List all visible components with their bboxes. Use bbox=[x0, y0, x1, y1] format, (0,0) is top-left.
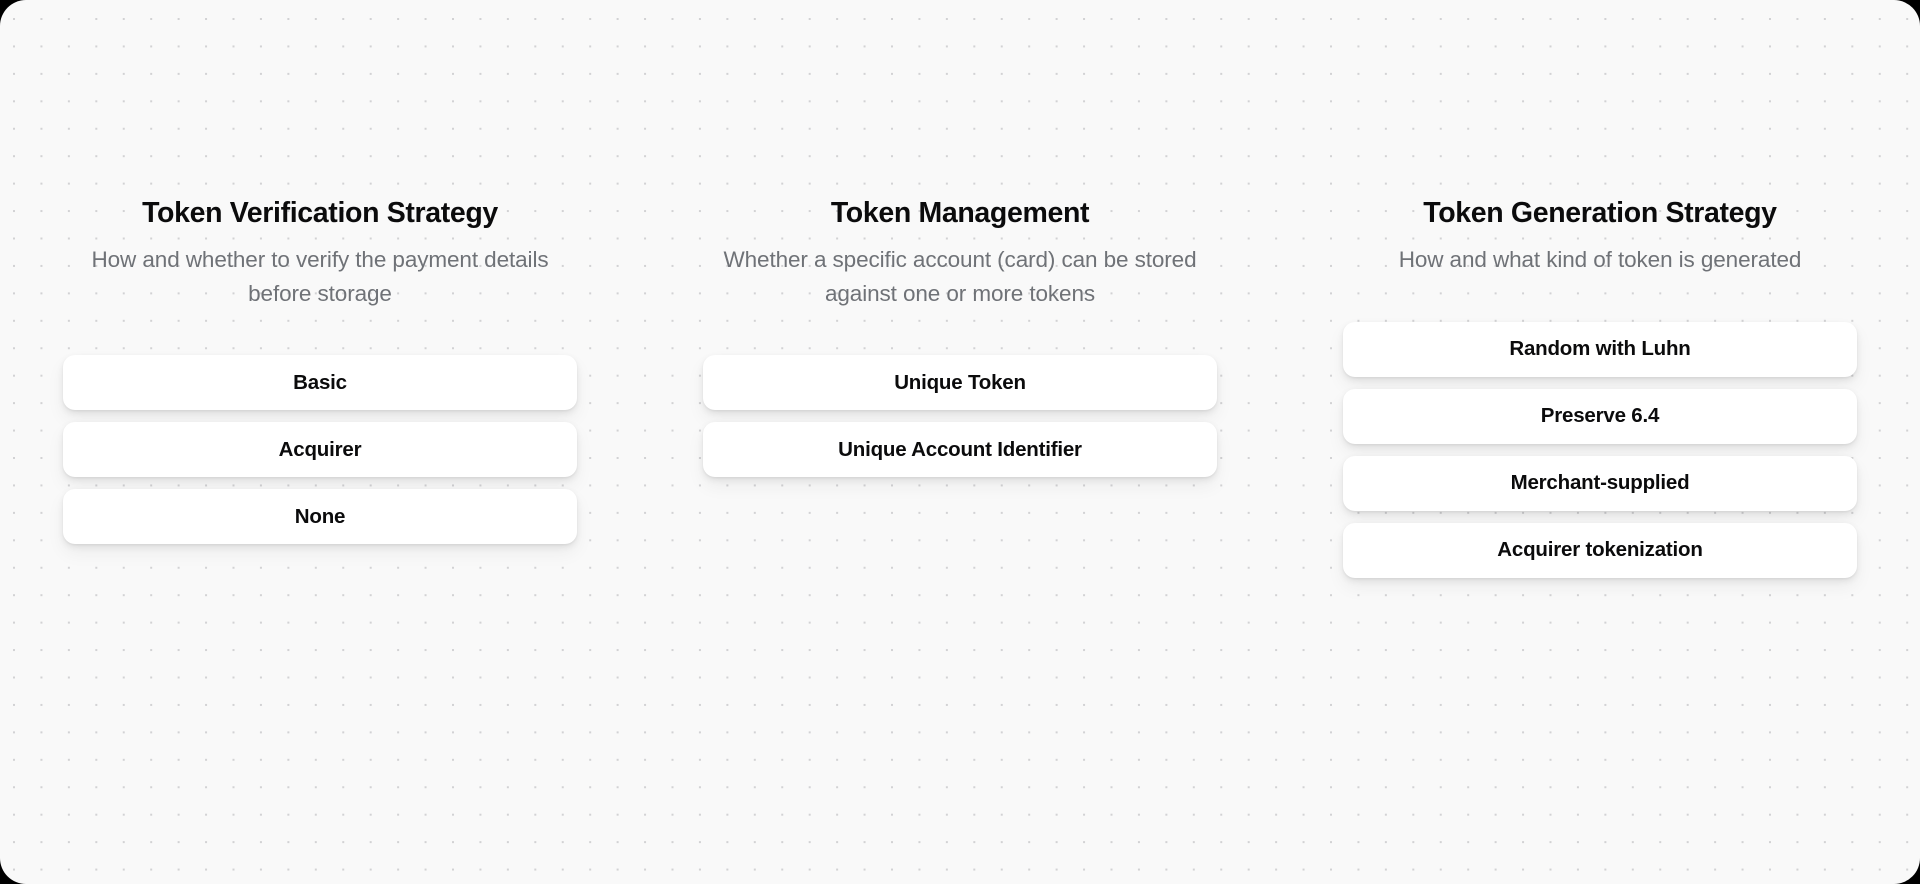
column-header: Token Verification Strategy How and whet… bbox=[63, 196, 577, 310]
option-label: None bbox=[295, 505, 345, 529]
option-label: Unique Account Identifier bbox=[838, 438, 1082, 462]
option-list: Basic Acquirer None bbox=[63, 355, 577, 544]
option-pill-unique-account-identifier[interactable]: Unique Account Identifier bbox=[703, 422, 1217, 477]
column-title: Token Verification Strategy bbox=[63, 196, 577, 230]
option-label: Preserve 6.4 bbox=[1541, 404, 1659, 428]
option-pill-acquirer-tokenization[interactable]: Acquirer tokenization bbox=[1343, 523, 1857, 578]
option-label: Unique Token bbox=[894, 371, 1026, 395]
column-subtitle: How and whether to verify the payment de… bbox=[63, 243, 577, 310]
option-pill-none[interactable]: None bbox=[63, 489, 577, 544]
column-subtitle: How and what kind of token is generated bbox=[1343, 243, 1857, 277]
column-token-generation-strategy: Token Generation Strategy How and what k… bbox=[1280, 196, 1920, 578]
option-pill-preserve-6-4[interactable]: Preserve 6.4 bbox=[1343, 389, 1857, 444]
option-pill-merchant-supplied[interactable]: Merchant-supplied bbox=[1343, 456, 1857, 511]
column-token-management: Token Management Whether a specific acco… bbox=[640, 196, 1280, 477]
option-label: Acquirer tokenization bbox=[1497, 538, 1702, 562]
column-title: Token Generation Strategy bbox=[1343, 196, 1857, 230]
option-label: Basic bbox=[293, 371, 347, 395]
option-pill-unique-token[interactable]: Unique Token bbox=[703, 355, 1217, 410]
column-subtitle: Whether a specific account (card) can be… bbox=[703, 243, 1217, 310]
option-label: Acquirer bbox=[279, 438, 362, 462]
option-pill-acquirer[interactable]: Acquirer bbox=[63, 422, 577, 477]
option-list: Unique Token Unique Account Identifier bbox=[703, 355, 1217, 477]
column-title: Token Management bbox=[703, 196, 1217, 230]
option-pill-basic[interactable]: Basic bbox=[63, 355, 577, 410]
column-token-verification-strategy: Token Verification Strategy How and whet… bbox=[0, 196, 640, 544]
column-header: Token Generation Strategy How and what k… bbox=[1343, 196, 1857, 277]
page-canvas: Token Verification Strategy How and whet… bbox=[0, 0, 1920, 884]
option-list: Random with Luhn Preserve 6.4 Merchant-s… bbox=[1343, 322, 1857, 578]
option-pill-random-with-luhn[interactable]: Random with Luhn bbox=[1343, 322, 1857, 377]
options-columns-container: Token Verification Strategy How and whet… bbox=[0, 0, 1920, 884]
option-label: Merchant-supplied bbox=[1511, 471, 1690, 495]
option-label: Random with Luhn bbox=[1509, 337, 1690, 361]
column-header: Token Management Whether a specific acco… bbox=[703, 196, 1217, 310]
